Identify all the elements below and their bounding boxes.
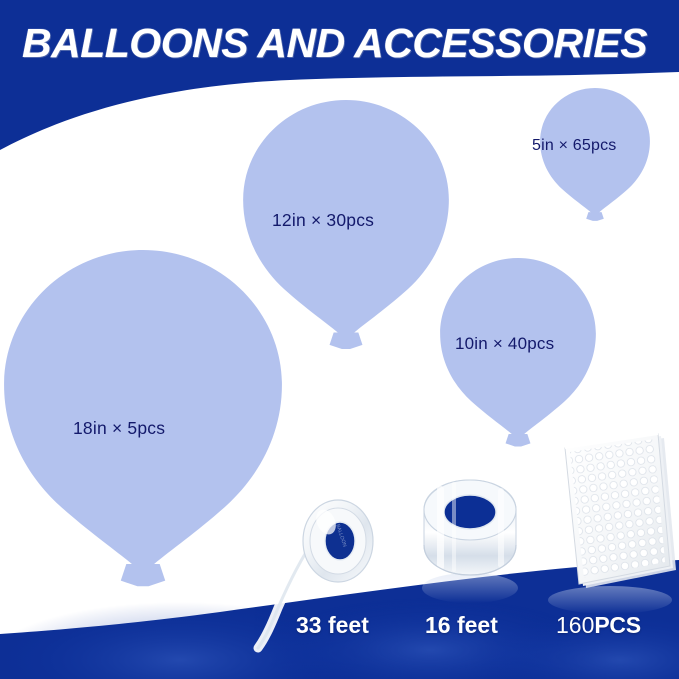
page-title: BALLOONS AND ACCESSORIES [22,20,679,67]
balloon-5in-label: 5in × 65pcs [532,137,616,155]
balloon-10in-label: 10in × 40pcs [455,334,554,354]
tape-length-label: 33 feet [296,612,369,639]
glue-dots-sheet [548,422,679,614]
accessories-group: BALLOON [0,0,679,679]
glue-dots-count-label: 160PCS [556,612,641,639]
glue-dots-count-number: 160 [556,612,594,638]
glue-dots-count-unit: PCS [594,612,640,638]
product-infographic-poster: BALLOON [0,0,679,679]
balloon-18in-label: 18in × 5pcs [73,418,165,439]
balloon-12in-label: 12in × 30pcs [272,210,374,231]
ribbon-roll [422,480,518,603]
ribbon-length-label: 16 feet [425,612,498,639]
